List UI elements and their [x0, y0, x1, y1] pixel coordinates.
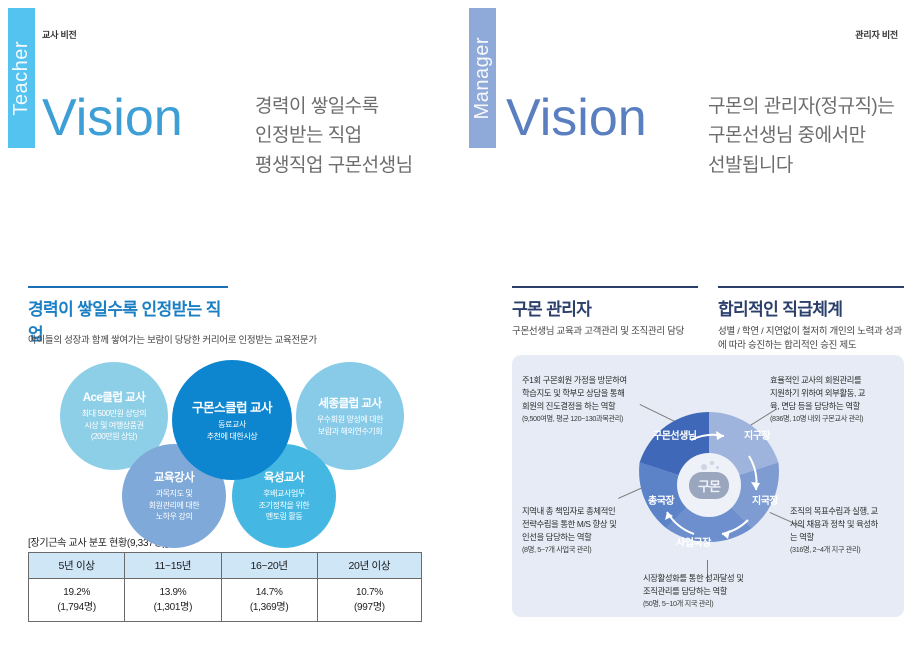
annotation-branch-sub: (316명, 2~4개 지구 관리)	[790, 544, 914, 555]
table-cell-percent: 19.2%	[63, 587, 90, 598]
table-cell-percent: 14.7%	[256, 587, 283, 598]
table-cell: 19.2% (1,794명)	[29, 579, 125, 622]
annotation-chief-l3: 인선을 담당하는 역할	[522, 531, 672, 544]
ring-label-business: 사업국장	[676, 534, 711, 549]
career-desc: 아이들의 성장과 함께 쌓여가는 보람이 당당한 커리어로 인정받는 교육전문가	[28, 334, 448, 348]
teacher-vision-lines: 경력이 쌓일수록 인정받는 직업 평생직업 구몬선생님	[255, 92, 413, 180]
manager-side-tab: Manager	[469, 8, 496, 148]
manager-vision-lines: 구몬의 관리자(정규직)는 구몬선생님 중에서만 선발됩니다	[708, 92, 894, 180]
table-header-cell: 11~15년	[125, 553, 221, 579]
manager-vision-panel: Manager 관리자 비전 Vision 구몬의 관리자(정규직)는 구몬선생…	[461, 0, 922, 220]
bubble-sejong-d2: 보람과 해외연수기회	[318, 426, 382, 438]
annotation-district: 효율적인 교사의 회원관리를 지원하기 위하여 외부활동, 교 육, 면담 등을…	[770, 374, 910, 424]
teacher-role-bubbles: Ace클럽 교사 최대 500만원 상당의 시상 및 여행상품권 (200만원 …	[60, 360, 440, 520]
bubble-ace-d2: 시상 및 여행상품권	[84, 420, 143, 432]
ring-label-district: 지구장	[744, 427, 770, 442]
table-header-cell: 5년 이상	[29, 553, 125, 579]
logo-bubble-icon	[701, 464, 707, 470]
logo-bubble-icon	[716, 466, 719, 469]
rank-title: 합리적인 직급체계	[718, 295, 904, 320]
table-cell-percent: 10.7%	[356, 587, 383, 598]
annotation-teacher: 주1회 구몬회원 가정을 방문하여 학습지도 및 학부모 상담을 통해 회원의 …	[522, 374, 682, 424]
bubble-sejong-title: 세종클럽 교사	[318, 395, 381, 411]
annotation-branch: 조직의 목표수립과 실행, 교 사의 채용과 정착 및 육성하 는 역할 (31…	[790, 505, 914, 555]
bubble-yuksung-d2: 조기정착을 위한	[259, 500, 310, 512]
bubble-yuksung-d3: 멘토링 활동	[266, 511, 303, 523]
annotation-district-l2: 지원하기 위하여 외부활동, 교	[770, 387, 910, 400]
annotation-branch-l1: 조직의 목표수립과 실행, 교	[790, 505, 914, 518]
annotation-business-l1: 시장활성화를 통한 성과달성 및	[643, 572, 833, 585]
manager-vision-word: Vision	[506, 92, 647, 144]
donut-center-hole: 구몬	[677, 453, 741, 517]
bubble-gangsa-d3: 노하우 강의	[156, 511, 193, 523]
manager-title: 구몬 관리자	[512, 295, 698, 320]
annotation-district-l3: 육, 면담 등을 담당하는 역할	[770, 400, 910, 413]
teacher-side-tab-label: Teacher	[10, 41, 33, 116]
annotation-branch-l3: 는 역할	[790, 531, 914, 544]
tenure-distribution-table: 5년 이상 11~15년 16~20년 20년 이상 19.2% (1,794명…	[28, 552, 422, 622]
manager-side-tab-label: Manager	[471, 37, 494, 119]
teacher-vision-word: Vision	[42, 92, 183, 144]
manager-vision-line-1: 구몬의 관리자(정규직)는	[708, 92, 894, 121]
annotation-business: 시장활성화를 통한 성과달성 및 조직관리를 담당하는 역할 (50명, 5~1…	[643, 572, 833, 609]
annotation-branch-l2: 사의 채용과 정착 및 육성하	[790, 518, 914, 531]
annotation-chief-sub: (8명, 5~7개 사업국 관리)	[522, 544, 672, 555]
teacher-vision-line-3: 평생직업 구몬선생님	[255, 151, 413, 180]
bubble-gangsa-d1: 과목지도 및	[156, 488, 193, 500]
bubble-yuksung-d1: 후배교사업무	[263, 488, 305, 500]
teacher-vision-line-1: 경력이 쌓일수록	[255, 92, 413, 121]
manager-section-heading: 구몬 관리자 구몬선생님 교육과 고객관리 및 조직관리 담당	[512, 286, 698, 339]
annotation-chief: 지역내 총 책임자로 총체적인 전략수립을 통한 M/S 향상 및 인선을 담당…	[522, 505, 672, 555]
bubble-ace-d1: 최대 500만원 상당의	[82, 408, 147, 420]
bubble-gangsa-title: 교육강사	[154, 469, 194, 485]
annotation-district-sub: (836명, 10명 내외 구몬교사 관리)	[770, 413, 910, 424]
bubble-yuksung-title: 육성교사	[264, 469, 304, 485]
career-rule	[28, 286, 228, 288]
annotation-teacher-l2: 학습지도 및 학부모 상담을 통해	[522, 387, 682, 400]
logo-bubble-icon	[710, 461, 714, 465]
kumon-logo-text: 구몬	[698, 476, 720, 495]
teacher-vision-line-2: 인정받는 직업	[255, 121, 413, 150]
table-header-cell: 16~20년	[221, 553, 317, 579]
table-header-row: 5년 이상 11~15년 16~20년 20년 이상	[29, 553, 422, 579]
rank-rule	[718, 286, 904, 288]
ring-label-teacher: 구몬선생님	[653, 427, 697, 442]
annotation-business-sub: (50명, 5~10개 지국 관리)	[643, 598, 833, 609]
poster-page: Teacher 교사 비전 Vision 경력이 쌓일수록 인정받는 직업 평생…	[0, 0, 922, 649]
bubble-kumons-d2: 추천에 대한시상	[207, 431, 258, 443]
teacher-vision-panel: Teacher 교사 비전 Vision 경력이 쌓일수록 인정받는 직업 평생…	[0, 0, 461, 220]
manager-rule	[512, 286, 698, 288]
manager-vision-line-3: 선발됩니다	[708, 151, 894, 180]
manager-kicker: 관리자 비전	[855, 28, 898, 41]
table-cell: 13.9% (1,301명)	[125, 579, 221, 622]
bubble-ace-title: Ace클럽 교사	[83, 389, 146, 405]
bubble-kumons-title: 구몬스클럽 교사	[192, 397, 272, 416]
table-cell: 10.7% (997명)	[317, 579, 421, 622]
ring-label-branch: 지국장	[752, 492, 778, 507]
manager-vision-line-2: 구몬선생님 중에서만	[708, 121, 894, 150]
table-cell: 14.7% (1,369명)	[221, 579, 317, 622]
teacher-side-tab: Teacher	[8, 8, 35, 148]
annotation-chief-l2: 전략수립을 통한 M/S 향상 및	[522, 518, 672, 531]
bubble-sejong-d1: 우수회원 양성에 대한	[317, 414, 383, 426]
table-cell-count: (1,301명)	[154, 602, 193, 613]
table-row: 19.2% (1,794명) 13.9% (1,301명) 14.7% (1,3…	[29, 579, 422, 622]
table-cell-count: (997명)	[354, 602, 385, 613]
table-header-cell: 20년 이상	[317, 553, 421, 579]
rank-desc: 성별 / 학연 / 지연없이 철저히 개인의 노력과 성과에 따라 승진하는 합…	[718, 325, 904, 354]
kumon-logo: 구몬	[689, 472, 729, 499]
table-cell-count: (1,369명)	[250, 602, 289, 613]
table-cell-percent: 13.9%	[159, 587, 186, 598]
annotation-business-l2: 조직관리를 담당하는 역할	[643, 585, 833, 598]
manager-desc: 구몬선생님 교육과 고객관리 및 조직관리 담당	[512, 325, 698, 339]
annotation-teacher-l3: 회원의 진도결정을 하는 역할	[522, 400, 682, 413]
annotation-district-l1: 효율적인 교사의 회원관리를	[770, 374, 910, 387]
annotation-teacher-l1: 주1회 구몬회원 가정을 방문하여	[522, 374, 682, 387]
table-cell-count: (1,794명)	[57, 602, 96, 613]
teacher-kicker: 교사 비전	[42, 28, 77, 41]
annotation-chief-l1: 지역내 총 책임자로 총체적인	[522, 505, 672, 518]
annotation-teacher-sub: (9,500여명, 평균 120~130과목관리)	[522, 413, 682, 424]
bubble-ace-d3: (200만원 상당)	[91, 431, 137, 443]
bubble-kumons-club: 구몬스클럽 교사 동료교사 추천에 대한시상	[172, 360, 292, 480]
rank-section-heading: 합리적인 직급체계 성별 / 학연 / 지연없이 철저히 개인의 노력과 성과에…	[718, 286, 904, 354]
bubble-kumons-d1: 동료교사	[218, 419, 246, 431]
bubble-gangsa-d2: 회원관리에 대한	[149, 500, 200, 512]
